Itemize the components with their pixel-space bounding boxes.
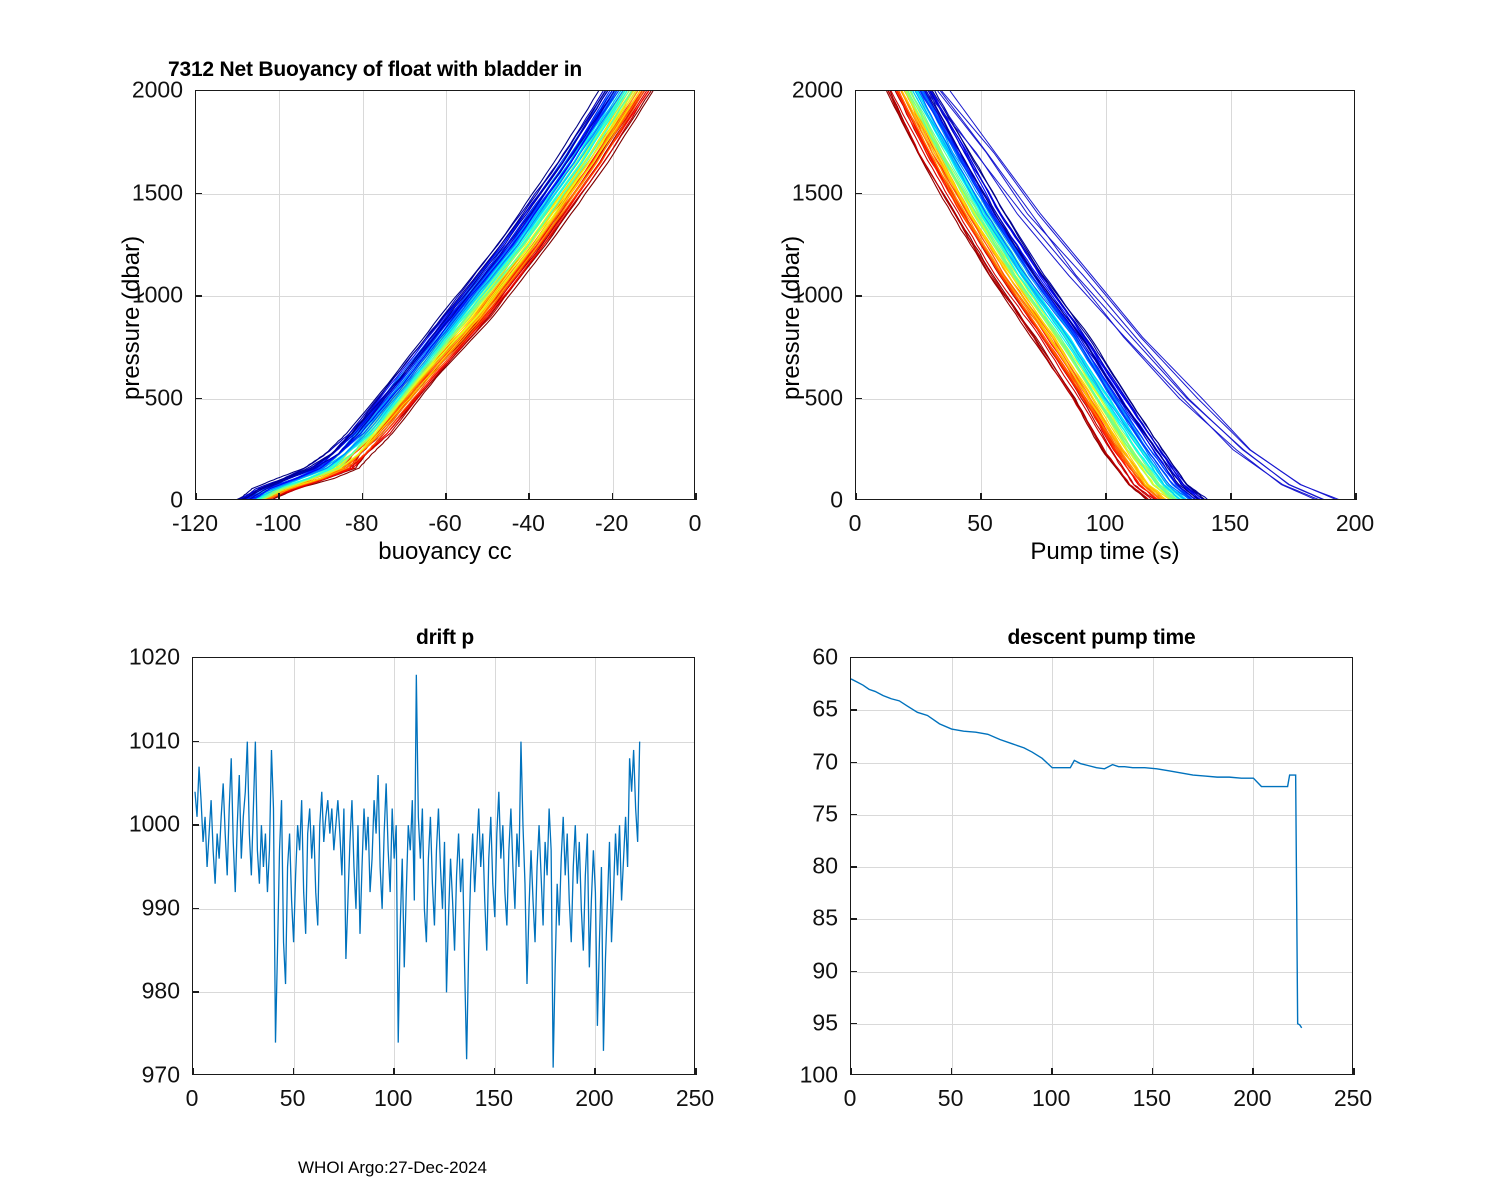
y-tick-label: 75	[770, 800, 838, 827]
x-tick-label: 200	[1233, 1085, 1271, 1112]
y-tick-mark	[850, 866, 857, 868]
x-tick-mark	[612, 493, 614, 500]
x-tick-label: 0	[689, 510, 702, 537]
x-axis-label-pump-time: Pump time (s)	[855, 538, 1355, 566]
x-tick-label: 200	[575, 1085, 613, 1112]
profile-line	[932, 91, 1228, 500]
profile-line	[935, 91, 1228, 500]
x-tick-label: 50	[967, 510, 993, 537]
y-tick-mark	[855, 398, 862, 400]
profile-line	[239, 91, 614, 500]
x-tick-mark	[850, 1068, 852, 1075]
profile-line	[252, 91, 627, 500]
x-tick-label: -20	[595, 510, 628, 537]
y-tick-label: 970	[112, 1062, 180, 1089]
x-tick-mark	[980, 493, 982, 500]
profile-line	[239, 91, 614, 500]
profile-line	[931, 91, 1216, 500]
y-tick-label: 2000	[115, 77, 183, 104]
profile-line	[235, 91, 616, 500]
net-buoyancy-curves	[196, 91, 695, 500]
x-tick-mark	[855, 493, 857, 500]
descent-pump-time-line	[851, 679, 1302, 1028]
x-tick-label: -80	[345, 510, 378, 537]
plot-area-net-buoyancy	[195, 90, 695, 500]
x-tick-mark	[1152, 1068, 1154, 1075]
y-tick-mark	[195, 295, 202, 297]
profile-line	[233, 91, 612, 500]
profile-line	[250, 91, 640, 500]
x-tick-label: 50	[938, 1085, 964, 1112]
plot-area-drift-p	[192, 657, 695, 1075]
y-tick-mark	[850, 709, 857, 711]
x-tick-label: -40	[512, 510, 545, 537]
y-tick-label: 1500	[775, 179, 843, 206]
profile-line	[237, 91, 616, 500]
y-tick-label: 0	[115, 487, 183, 514]
panel-descent-pump-time: descent pump time 0501001502002506065707…	[750, 600, 1500, 1140]
y-axis-label-pump-time: pressure (dbar)	[778, 236, 806, 400]
y-tick-label: 80	[770, 853, 838, 880]
profile-line	[245, 91, 623, 500]
y-tick-mark	[850, 814, 857, 816]
profile-line	[239, 91, 607, 500]
y-tick-label: 100	[770, 1062, 838, 1089]
x-tick-mark	[192, 1068, 194, 1075]
x-tick-mark	[951, 1068, 953, 1075]
x-tick-mark	[1355, 493, 1357, 500]
x-tick-mark	[362, 493, 364, 500]
profile-line	[918, 91, 1207, 500]
y-tick-label: 90	[770, 957, 838, 984]
x-tick-mark	[1105, 493, 1107, 500]
panel-title-drift-p: drift p	[195, 626, 695, 650]
x-tick-label: 50	[280, 1085, 306, 1112]
descent-pump-time-series	[851, 658, 1353, 1075]
x-tick-mark	[1051, 1068, 1053, 1075]
y-tick-mark	[850, 1023, 857, 1025]
profile-line	[253, 91, 636, 500]
profile-line	[928, 91, 1221, 500]
y-tick-label: 70	[770, 748, 838, 775]
y-tick-mark	[855, 193, 862, 195]
x-tick-mark	[445, 493, 447, 500]
panel-title-descent-pump-time: descent pump time	[850, 626, 1353, 650]
x-tick-label: 200	[1336, 510, 1374, 537]
x-tick-label: -100	[255, 510, 301, 537]
y-tick-mark	[195, 398, 202, 400]
x-tick-label: 100	[374, 1085, 412, 1112]
y-tick-mark	[192, 741, 199, 743]
plot-area-descent-pump-time	[850, 657, 1353, 1075]
x-tick-mark	[293, 1068, 295, 1075]
profile-line	[236, 91, 607, 500]
x-tick-mark	[695, 1068, 697, 1075]
y-tick-label: 95	[770, 1009, 838, 1036]
panel-pump-time: pressure (dbar) Pump time (s) 0501001502…	[750, 0, 1500, 600]
y-axis-label-net-buoyancy: pressure (dbar)	[118, 236, 146, 400]
panel-drift-p: drift p 05010015020025097098099010001010…	[0, 600, 750, 1140]
x-tick-mark	[1230, 493, 1232, 500]
y-tick-label: 85	[770, 905, 838, 932]
x-tick-label: 0	[186, 1085, 199, 1112]
profile-line	[234, 91, 608, 500]
x-axis-label-net-buoyancy: buoyancy cc	[195, 538, 695, 566]
x-tick-mark	[195, 493, 197, 500]
y-tick-label: 0	[775, 487, 843, 514]
y-tick-label: 1000	[115, 282, 183, 309]
profile-line	[255, 91, 649, 500]
y-tick-label: 1000	[775, 282, 843, 309]
profile-line	[930, 91, 1221, 500]
y-tick-label: 1500	[115, 179, 183, 206]
profile-line	[256, 91, 640, 500]
x-tick-label: -60	[428, 510, 461, 537]
pump-time-curves	[856, 91, 1355, 500]
y-tick-label: 1010	[112, 727, 180, 754]
profile-line	[244, 91, 615, 500]
profile-line	[931, 91, 1216, 500]
y-tick-mark	[850, 762, 857, 764]
drift-p-series	[193, 658, 695, 1075]
profile-line	[243, 91, 618, 500]
x-tick-mark	[494, 1068, 496, 1075]
profile-line	[919, 91, 1209, 500]
profile-line	[233, 91, 603, 500]
y-tick-mark	[195, 193, 202, 195]
profile-line	[236, 91, 606, 500]
profile-line	[242, 91, 618, 500]
x-tick-label: 250	[1334, 1085, 1372, 1112]
x-tick-label: 150	[475, 1085, 513, 1112]
y-tick-label: 1020	[112, 644, 180, 671]
y-tick-label: 65	[770, 696, 838, 723]
y-tick-label: 1000	[112, 811, 180, 838]
profile-line	[249, 91, 622, 500]
x-tick-mark	[1353, 1068, 1355, 1075]
profile-line	[244, 91, 623, 500]
x-tick-label: 100	[1086, 510, 1124, 537]
profile-line	[238, 91, 612, 500]
panel-net-buoyancy: 7312 Net Buoyancy of float with bladder …	[0, 0, 750, 600]
x-tick-label: 0	[849, 510, 862, 537]
x-tick-label: 150	[1133, 1085, 1171, 1112]
profile-line	[234, 91, 599, 500]
y-tick-mark	[850, 918, 857, 920]
x-tick-mark	[528, 493, 530, 500]
y-tick-label: 990	[112, 894, 180, 921]
y-tick-label: 500	[775, 384, 843, 411]
y-tick-mark	[192, 824, 199, 826]
x-tick-label: -120	[172, 510, 218, 537]
y-tick-label: 980	[112, 978, 180, 1005]
y-tick-mark	[192, 908, 199, 910]
x-tick-mark	[695, 493, 697, 500]
x-tick-label: 150	[1211, 510, 1249, 537]
profile-line	[233, 91, 605, 500]
figure-footer: WHOI Argo:27-Dec-2024	[298, 1158, 487, 1178]
x-tick-mark	[393, 1068, 395, 1075]
y-tick-mark	[850, 971, 857, 973]
profile-line	[244, 91, 614, 500]
x-tick-label: 0	[844, 1085, 857, 1112]
panel-title-net-buoyancy: 7312 Net Buoyancy of float with bladder …	[0, 58, 750, 82]
plot-area-pump-time	[855, 90, 1355, 500]
profile-line	[930, 91, 1220, 500]
profile-line	[240, 91, 610, 500]
x-tick-label: 250	[676, 1085, 714, 1112]
x-tick-mark	[278, 493, 280, 500]
profile-line-outlier	[938, 91, 1345, 500]
x-tick-mark	[594, 1068, 596, 1075]
profile-line	[919, 91, 1206, 500]
x-tick-mark	[1252, 1068, 1254, 1075]
y-tick-label: 2000	[775, 77, 843, 104]
y-tick-label: 60	[770, 644, 838, 671]
y-tick-label: 500	[115, 384, 183, 411]
y-tick-mark	[192, 991, 199, 993]
x-tick-label: 100	[1032, 1085, 1070, 1112]
drift-p-line	[195, 675, 640, 1068]
y-tick-mark	[855, 295, 862, 297]
